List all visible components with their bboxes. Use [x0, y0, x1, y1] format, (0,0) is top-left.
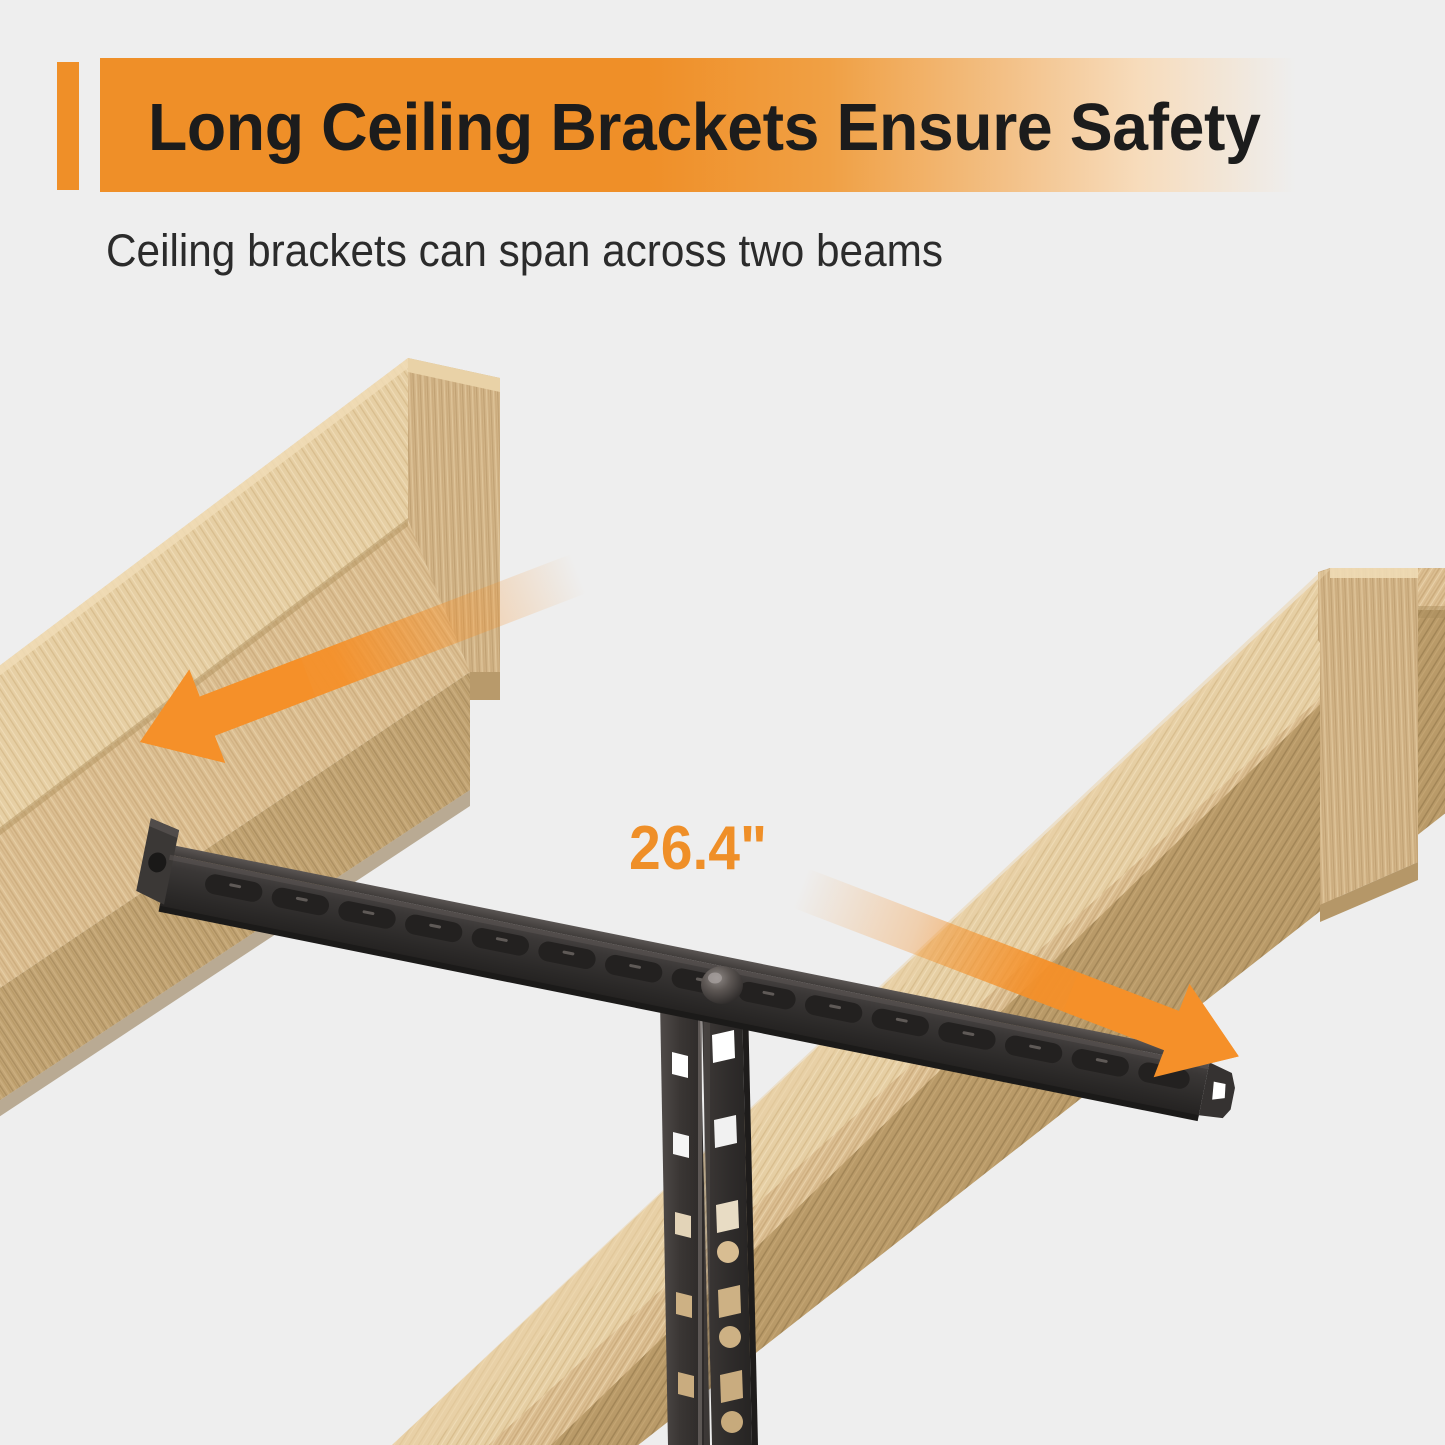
page-title: Long Ceiling Brackets Ensure Safety: [148, 80, 1358, 175]
span-measurement-label: 26.4": [629, 813, 767, 884]
page-subtitle: Ceiling brackets can span across two bea…: [106, 225, 943, 277]
ceiling-beam-left: [0, 358, 500, 1136]
header-block: Long Ceiling Brackets Ensure Safety Ceil…: [0, 0, 1445, 300]
product-feature-image: 26.4" Long Ceiling Brackets Ensure Safet…: [0, 0, 1445, 1445]
bracket-vertical-post: [660, 1000, 758, 1445]
center-bolt: [701, 966, 743, 1004]
accent-bar: [57, 62, 79, 190]
